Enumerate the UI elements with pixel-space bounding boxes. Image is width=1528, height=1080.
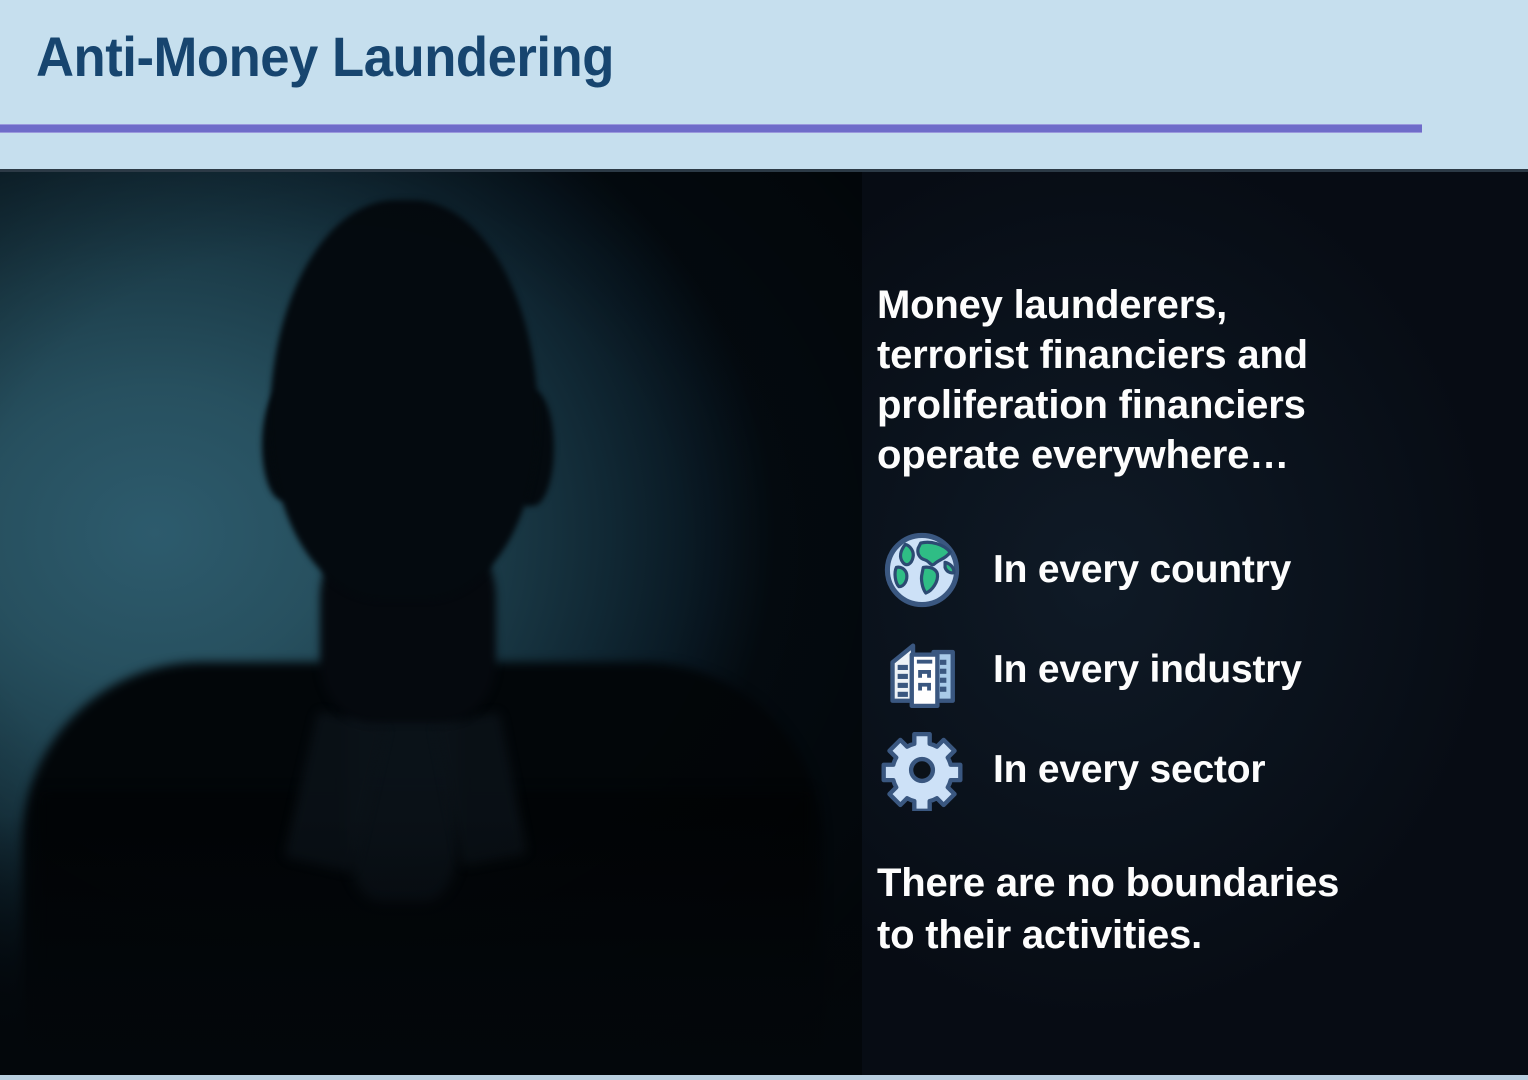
outro-line-1: There are no boundaries [877, 857, 1437, 909]
intro-line-2: terrorist financiers and [877, 330, 1417, 380]
intro-paragraph: Money launderers, terrorist financiers a… [877, 280, 1417, 480]
bullet-list: In every country [877, 520, 1477, 820]
bullet-label-industry: In every industry [993, 648, 1302, 692]
bullet-label-sector: In every sector [993, 748, 1265, 792]
slide-bottom-edge [0, 1075, 1528, 1080]
silhouette-photo [0, 172, 862, 1075]
globe-icon [877, 525, 967, 615]
slide: Anti-Money Laundering M [0, 0, 1528, 1080]
gear-icon [877, 725, 967, 815]
header-divider-rule [0, 124, 1422, 133]
text-column: Money launderers, terrorist financiers a… [862, 172, 1528, 1075]
bullet-item-sector: In every sector [877, 720, 1477, 820]
page-title: Anti-Money Laundering [36, 28, 614, 87]
outro-line-2: to their activities. [877, 909, 1437, 961]
buildings-icon [877, 625, 967, 715]
outro-paragraph: There are no boundaries to their activit… [877, 857, 1437, 961]
slide-header: Anti-Money Laundering [0, 0, 1528, 172]
bullet-item-country: In every country [877, 520, 1477, 620]
intro-line-4: operate everywhere… [877, 430, 1417, 480]
content-panel: Money launderers, terrorist financiers a… [0, 172, 1528, 1075]
bullet-label-country: In every country [993, 548, 1291, 592]
intro-line-3: proliferation financiers [877, 380, 1417, 430]
photo-bottom-fade [0, 815, 862, 1075]
bullet-item-industry: In every industry [877, 620, 1477, 720]
intro-line-1: Money launderers, [877, 280, 1417, 330]
